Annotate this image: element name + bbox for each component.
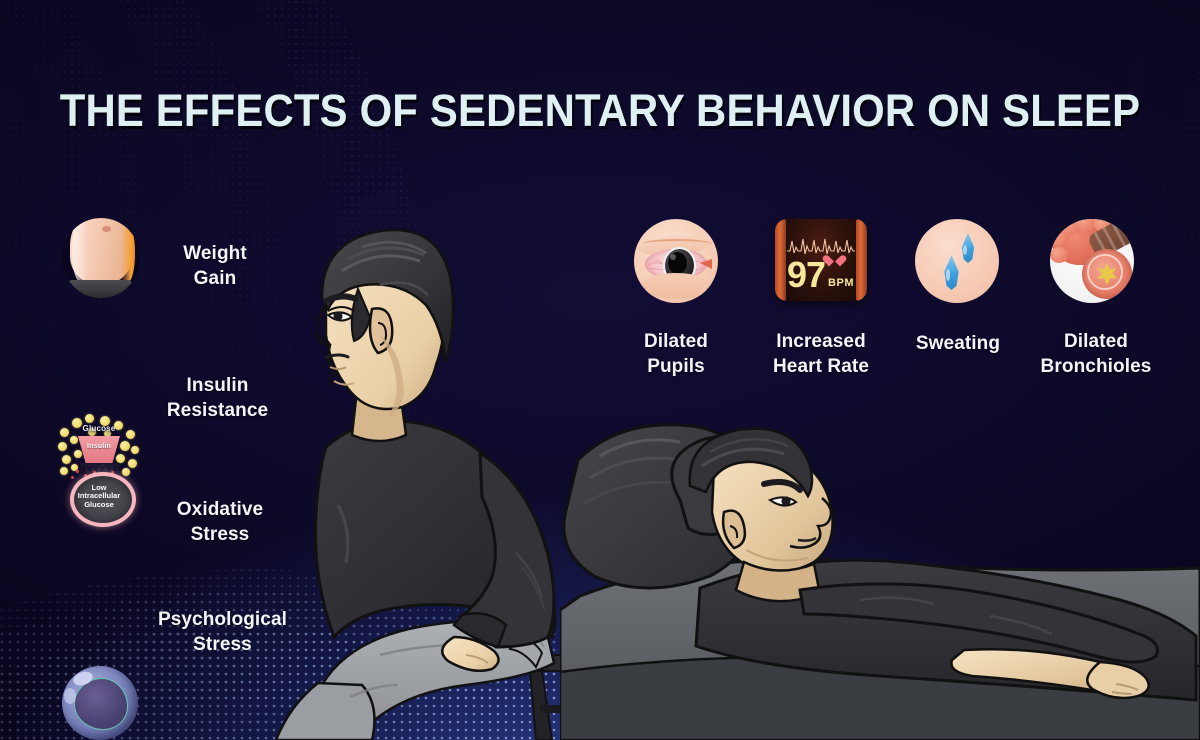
label-line-1: Increased	[757, 330, 885, 355]
heart-rate-monitor-icon: 97 BPM	[775, 219, 867, 301]
label-line-2: Bronchioles	[1026, 355, 1166, 380]
bronchiole-icon	[1050, 219, 1134, 303]
label-line-1: Dilated	[1026, 330, 1166, 355]
effect-label-sweating: Sweating	[903, 332, 1013, 357]
label-line-1: Dilated	[617, 330, 735, 355]
bpm-unit: BPM	[828, 277, 854, 289]
insulin-label: Insulin	[78, 443, 120, 450]
heart-icon	[828, 253, 841, 265]
glucose-label: Glucose	[68, 424, 130, 433]
effect-label-increased-heart-rate: Increased Heart Rate	[757, 330, 885, 379]
belly-icon	[62, 218, 140, 298]
label-line-2: Heart Rate	[757, 355, 885, 380]
figure-man-lying	[560, 400, 1200, 740]
eye-icon	[634, 219, 718, 303]
label-line-2: Pupils	[617, 355, 735, 380]
bpm-value: 97	[787, 257, 825, 293]
page-title: THE EFFECTS OF SEDENTARY BEHAVIOR ON SLE…	[42, 88, 1158, 133]
cell-icon	[62, 666, 138, 740]
low-glucose-label: Low Intracellular Glucose	[70, 484, 128, 509]
infographic-canvas: THE EFFECTS OF SEDENTARY BEHAVIOR ON SLE…	[0, 0, 1200, 740]
effect-label-dilated-bronchioles: Dilated Bronchioles	[1026, 330, 1166, 379]
label-line-1: Sweating	[903, 332, 1013, 357]
sweat-drops-icon	[915, 219, 999, 303]
effect-label-dilated-pupils: Dilated Pupils	[617, 330, 735, 379]
insulin-resistance-icon: Glucose Insulin Low Intracellular Glucos…	[58, 414, 140, 519]
